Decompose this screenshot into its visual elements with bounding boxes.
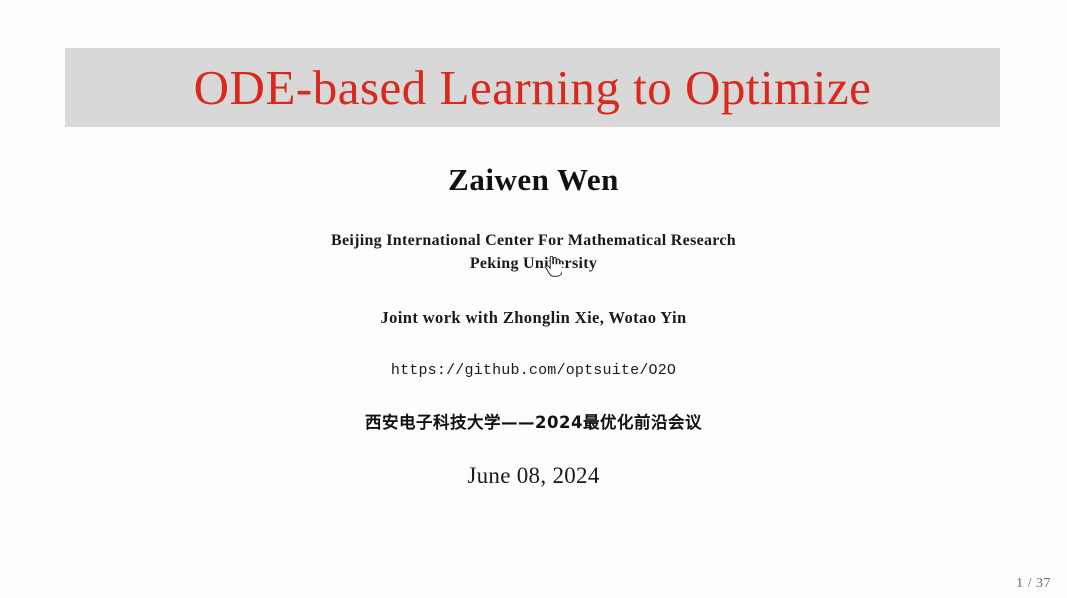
affiliation-block: Beijing International Center For Mathema… xyxy=(0,229,1067,275)
joint-work-credit: Joint work with Zhonglin Xie, Wotao Yin xyxy=(0,308,1067,328)
project-url[interactable]: https://github.com/optsuite/O2O xyxy=(0,362,1067,379)
slide-title: ODE-based Learning to Optimize xyxy=(194,63,872,112)
presentation-date: June 08, 2024 xyxy=(0,463,1067,489)
presentation-slide: ODE-based Learning to Optimize Zaiwen We… xyxy=(0,0,1067,598)
author-name: Zaiwen Wen xyxy=(0,163,1067,197)
affiliation-line-2: Peking University xyxy=(0,252,1067,275)
venue-chinese: 西安电子科技大学——2024最优化前沿会议 xyxy=(0,409,1067,433)
slide-title-band: ODE-based Learning to Optimize xyxy=(65,48,1000,127)
page-indicator: 1 / 37 xyxy=(1016,576,1051,592)
affiliation-line-1: Beijing International Center For Mathema… xyxy=(0,229,1067,252)
slide-body: Zaiwen Wen Beijing International Center … xyxy=(0,127,1067,489)
